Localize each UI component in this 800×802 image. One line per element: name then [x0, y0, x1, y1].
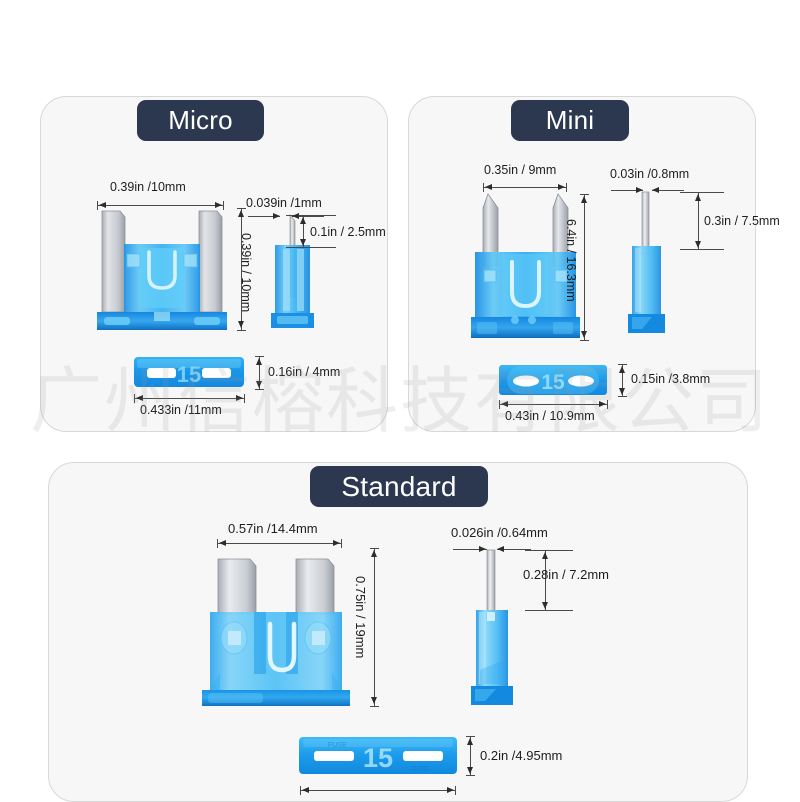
micro-bottom-height-arrow-down: [256, 381, 262, 388]
standard-front-width-label: 0.57in /14.4mm: [228, 521, 318, 536]
micro-side-thickness-arrow-right: [292, 213, 299, 219]
micro-side-length-arrow-up: [300, 217, 306, 224]
micro-bottom-width-label: 0.433in /11mm: [140, 403, 222, 417]
mini-bottom-height-arrow-down: [619, 388, 625, 395]
mini-front-width-tick-left: [483, 183, 484, 192]
standard-front-width-arrow-left: [219, 540, 226, 546]
standard-front-width-tick-right: [341, 539, 342, 548]
panel-title-standard: Standard: [310, 466, 488, 507]
mini-front-width-tick-right: [566, 183, 567, 192]
standard-bottom-width-tick-right: [455, 786, 456, 795]
micro-front-height-tick-top: [237, 208, 246, 209]
mini-bottom-width-arrow-left: [501, 401, 508, 407]
micro-fuse-bottom-view: 15: [133, 355, 246, 391]
panel-title-mini: Mini: [511, 100, 629, 141]
mini-front-width-label: 0.35in / 9mm: [484, 163, 556, 177]
standard-side-length-arrow-up: [542, 552, 548, 559]
micro-bottom-width-line: [134, 398, 244, 399]
standard-bottom-width-line: [300, 790, 455, 791]
standard-front-height-label: 0.75in / 19mm: [353, 576, 368, 658]
micro-front-width-arrow-right: [215, 202, 222, 208]
micro-side-length-arrow-down: [300, 239, 306, 246]
micro-side-length-label: 0.1in / 2.5mm: [310, 225, 386, 239]
standard-front-height-arrow-up: [371, 550, 377, 557]
micro-front-width-tick-right: [223, 201, 224, 210]
standard-front-width-line: [217, 543, 341, 544]
micro-front-width-line: [97, 205, 223, 206]
micro-side-length-ext-bottom: [286, 247, 336, 248]
svg-text:15: 15: [363, 743, 393, 773]
mini-front-height-label: 6.4in / 16.3mm: [564, 219, 578, 302]
svg-text:AUTO: AUTO: [410, 766, 430, 773]
mini-bottom-height-tick-top: [618, 364, 627, 365]
standard-front-width-arrow-right: [333, 540, 340, 546]
standard-side-length-ext-top: [525, 550, 573, 551]
micro-bottom-width-arrow-left: [136, 395, 143, 401]
standard-side-length-label: 0.28in / 7.2mm: [523, 567, 609, 582]
mini-front-height-tick-bottom: [580, 340, 589, 341]
standard-side-length-arrow-down: [542, 602, 548, 609]
standard-fuse-side-view: [462, 548, 524, 708]
standard-bottom-height-tick-bottom: [466, 775, 475, 776]
svg-text:15: 15: [177, 362, 201, 387]
mini-bottom-height-tick-bottom: [618, 396, 627, 397]
standard-bottom-width-arrow-right: [447, 787, 454, 793]
micro-bottom-width-tick-left: [134, 394, 135, 403]
panel-title-micro: Micro: [137, 100, 264, 141]
standard-front-height-tick-bottom: [370, 706, 379, 707]
micro-front-width-arrow-left: [99, 202, 106, 208]
standard-bottom-height-tick-top: [466, 736, 475, 737]
mini-bottom-width-arrow-right: [599, 401, 606, 407]
mini-front-height-line: [584, 194, 585, 340]
svg-text:15: 15: [541, 371, 565, 394]
mini-front-width-line: [483, 187, 566, 188]
mini-bottom-height-label: 0.15in /3.8mm: [631, 372, 710, 386]
standard-fuse-front-view: [198, 548, 366, 708]
mini-bottom-width-label: 0.43in / 10.9mm: [505, 409, 595, 423]
micro-front-height-tick-bottom: [237, 330, 246, 331]
standard-bottom-width-tick-left: [300, 786, 301, 795]
micro-front-height-arrow-down: [238, 321, 244, 328]
micro-bottom-height-arrow-up: [256, 358, 262, 365]
mini-front-height-arrow-down: [581, 331, 587, 338]
svg-text:FUSE: FUSE: [328, 742, 347, 749]
micro-side-thickness-arrow-left: [273, 213, 280, 219]
mini-side-length-ext-top: [680, 192, 724, 193]
micro-bottom-width-arrow-right: [236, 395, 243, 401]
mini-side-length-arrow-down: [695, 241, 701, 248]
standard-fuse-bottom-view: 15 FUSE AUTO: [298, 735, 458, 777]
mini-side-length-arrow-up: [695, 194, 701, 201]
mini-fuse-side-view: [620, 190, 676, 336]
standard-side-length-ext-bottom: [525, 610, 573, 611]
mini-front-width-arrow-right: [558, 184, 565, 190]
mini-bottom-width-tick-left: [499, 400, 500, 409]
micro-front-height-label: 0.39in / 10mm: [239, 233, 253, 312]
standard-bottom-width-arrow-left: [302, 787, 309, 793]
micro-front-width-tick-left: [97, 201, 98, 210]
mini-bottom-height-arrow-up: [619, 366, 625, 373]
micro-bottom-width-tick-right: [244, 394, 245, 403]
standard-bottom-height-label: 0.2in /4.95mm: [480, 748, 562, 763]
micro-fuse-front-view: [92, 208, 232, 338]
standard-front-height-line: [374, 548, 375, 706]
micro-bottom-height-tick-top: [255, 356, 264, 357]
micro-side-thickness-label: 0.039in /1mm: [246, 196, 322, 210]
standard-front-height-arrow-down: [371, 697, 377, 704]
mini-side-thickness-arrow-right: [652, 187, 659, 193]
standard-side-thickness-label: 0.026in /0.64mm: [451, 525, 548, 540]
micro-bottom-height-label: 0.16in / 4mm: [268, 365, 340, 379]
mini-side-length-label: 0.3in / 7.5mm: [704, 214, 780, 228]
standard-bottom-height-arrow-up: [467, 738, 473, 745]
diagram-canvas: Micro 0.39in /10mm: [0, 0, 800, 800]
mini-front-width-arrow-left: [485, 184, 492, 190]
mini-side-thickness-arrow-left: [636, 187, 643, 193]
mini-bottom-width-tick-right: [607, 400, 608, 409]
mini-side-thickness-label: 0.03in /0.8mm: [610, 167, 689, 181]
standard-front-height-tick-top: [370, 548, 379, 549]
standard-front-width-tick-left: [217, 539, 218, 548]
micro-front-height-arrow-up: [238, 210, 244, 217]
mini-side-length-ext-bottom: [680, 249, 724, 250]
standard-side-thickness-arrow-left: [479, 546, 486, 552]
mini-front-height-arrow-up: [581, 196, 587, 203]
standard-side-thickness-arrow-right: [497, 546, 504, 552]
standard-bottom-height-arrow-down: [467, 767, 473, 774]
micro-bottom-height-tick-bottom: [255, 389, 264, 390]
mini-fuse-bottom-view: 15: [498, 363, 609, 399]
mini-front-height-tick-top: [580, 194, 589, 195]
micro-front-width-label: 0.39in /10mm: [110, 180, 186, 194]
mini-bottom-width-line: [499, 404, 607, 405]
